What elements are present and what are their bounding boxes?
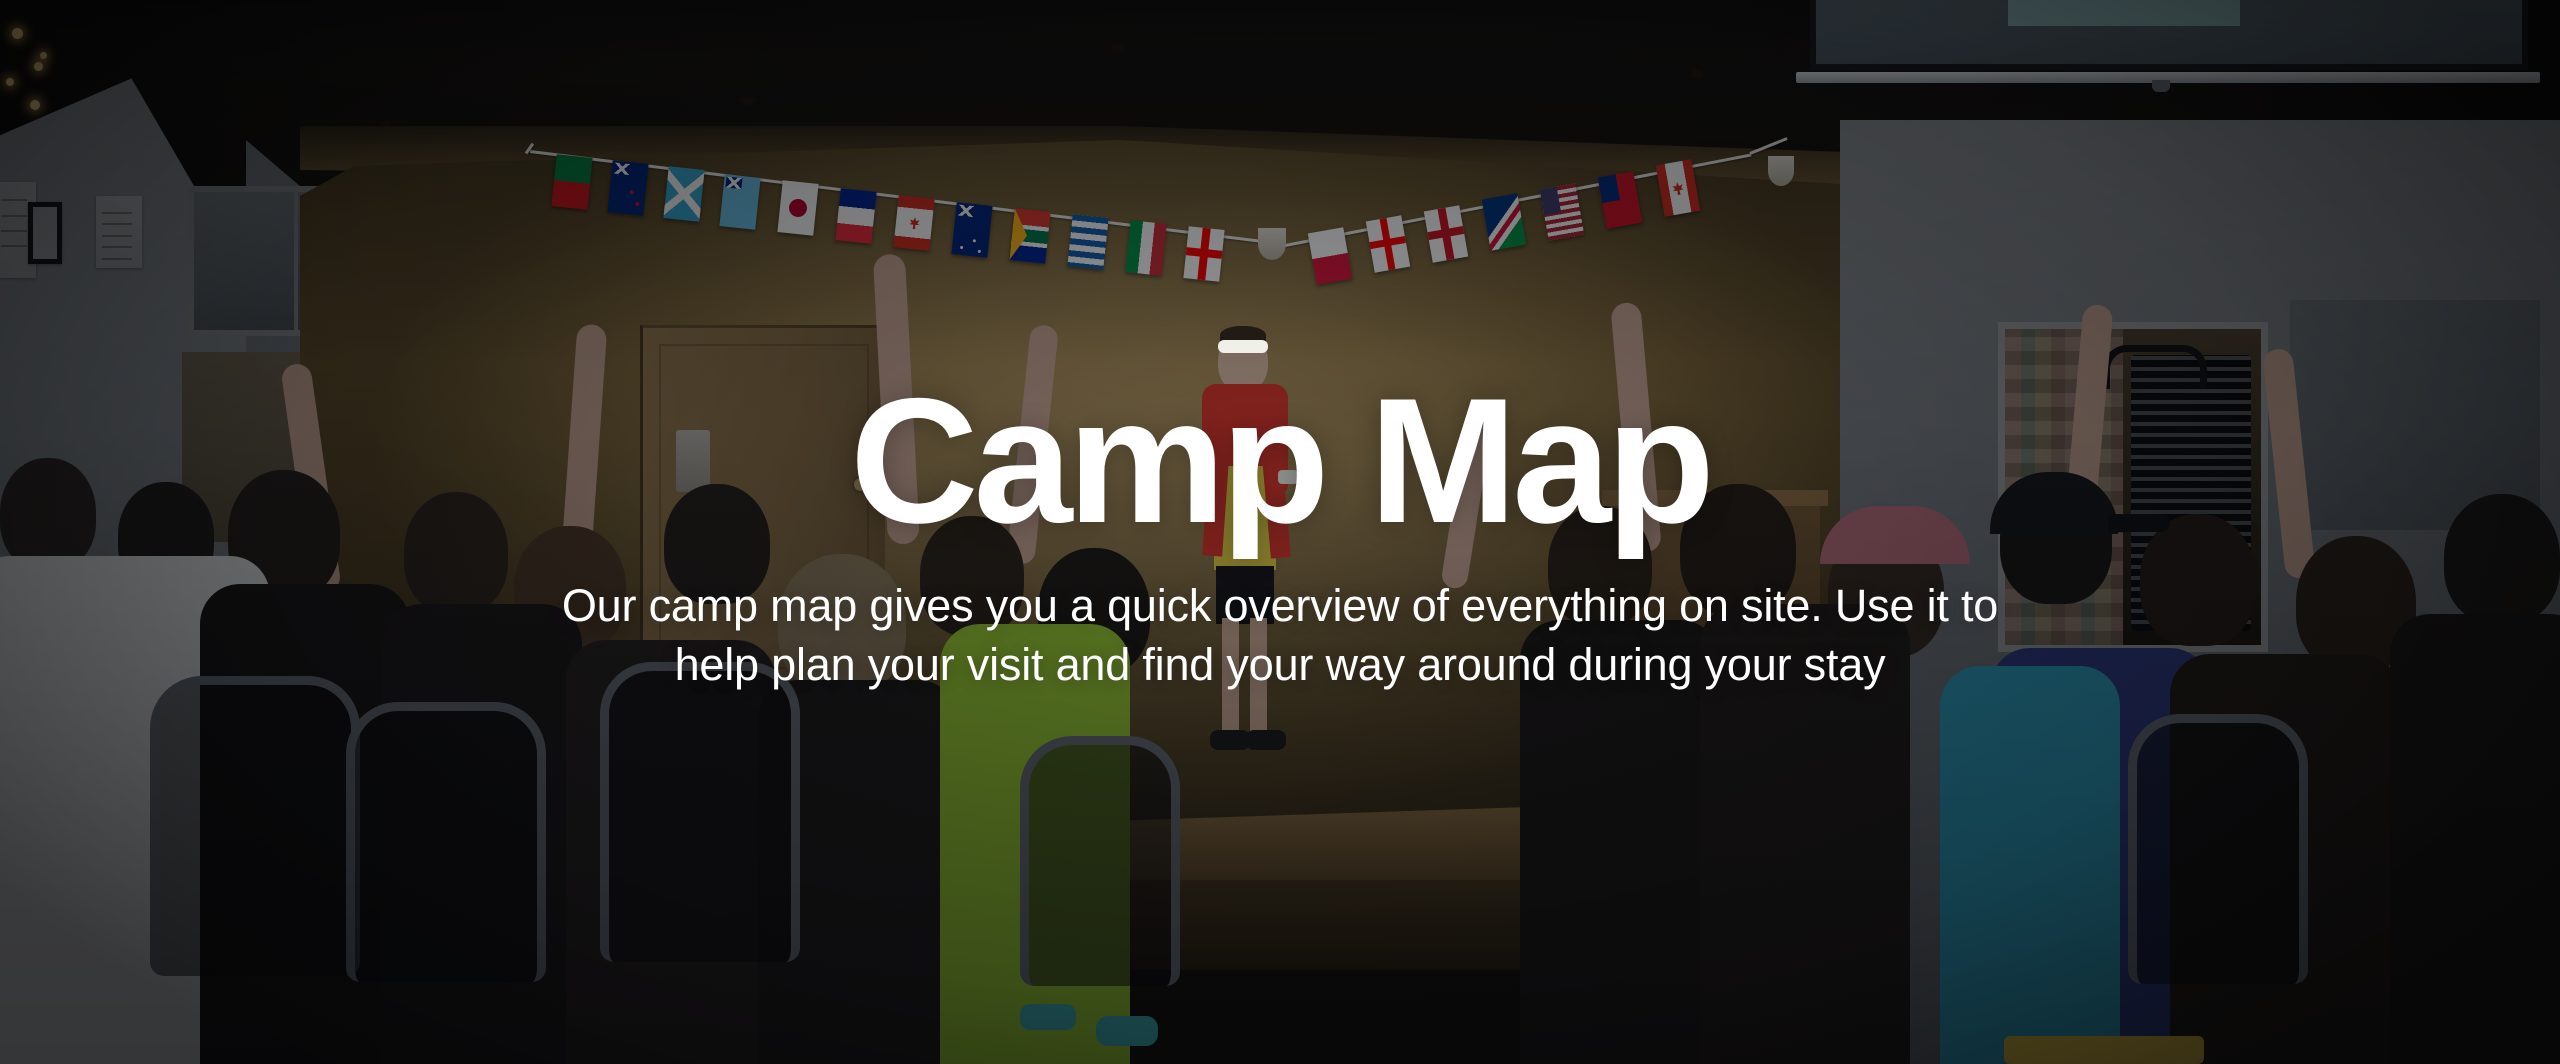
hero-description: Our camp map gives you a quick overview … <box>545 577 2015 694</box>
camp-map-hero-banner: Camp Map Our camp map gives you a quick … <box>0 0 2560 1064</box>
hero-content: Camp Map Our camp map gives you a quick … <box>0 0 2560 1064</box>
page-title: Camp Map <box>850 370 1710 552</box>
